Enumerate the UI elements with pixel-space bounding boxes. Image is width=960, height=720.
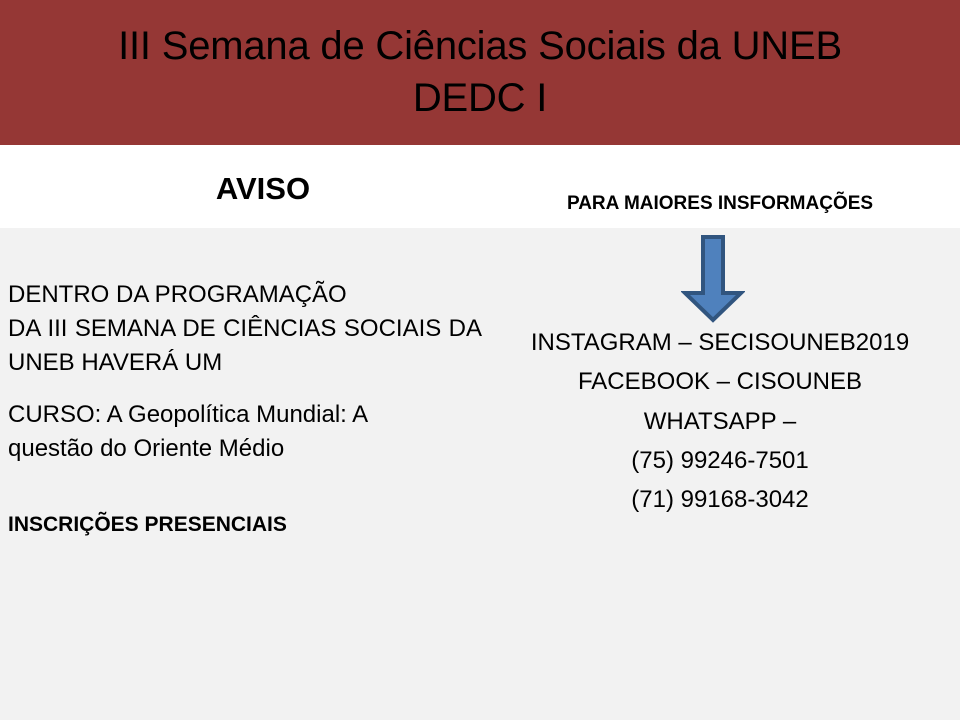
down-arrow-icon	[681, 235, 745, 323]
page-title: III Semana de Ciências Sociais da UNEB D…	[78, 21, 882, 123]
instagram-line: INSTAGRAM – SECISOUNEB2019	[500, 328, 940, 357]
aviso-heading: AVISO	[150, 172, 376, 206]
more-info-heading: PARA MAIORES INSFORMAÇÕES	[500, 194, 940, 215]
course-line-2: questão do Oriente Médio	[8, 432, 482, 466]
left-line-2: DA III SEMANA DE CIÊNCIAS	[8, 315, 336, 342]
left-line-1: DENTRO DA PROGRAMAÇÃO	[8, 278, 482, 312]
course-line-1: CURSO: A Geopolítica Mundial: A	[8, 398, 482, 432]
right-contact-column: INSTAGRAM – SECISOUNEB2019 FACEBOOK – CI…	[500, 328, 940, 524]
whatsapp-label: WHATSAPP –	[500, 407, 940, 436]
white-band	[0, 145, 960, 228]
left-text-column: DENTRO DA PROGRAMAÇÃO DA III SEMANA DE C…	[8, 278, 482, 540]
title-banner: III Semana de Ciências Sociais da UNEB D…	[0, 0, 960, 145]
facebook-line: FACEBOOK – CISOUNEB	[500, 367, 940, 396]
left-justified-block: DA III SEMANA DE CIÊNCIAS SOCIAIS DA UNE…	[8, 312, 482, 380]
whatsapp-phone-1: (75) 99246-7501	[500, 446, 940, 475]
down-arrow-shape	[681, 235, 745, 323]
whatsapp-phone-2: (71) 99168-3042	[500, 485, 940, 514]
enrollment-note: INSCRIÇÕES PRESENCIAIS	[8, 510, 482, 540]
